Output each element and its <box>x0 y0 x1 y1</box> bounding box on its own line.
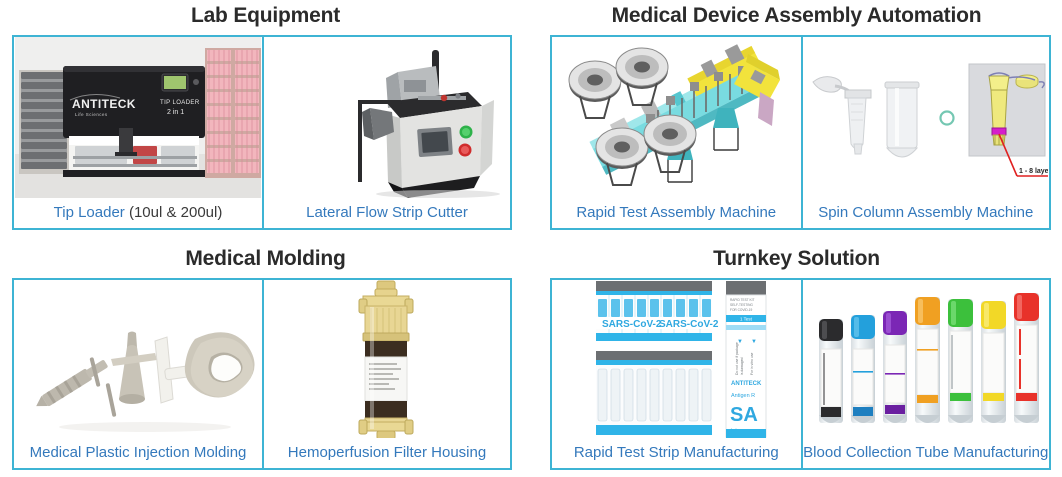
caption-main: Blood Collection Tube Manufacturing <box>803 444 1048 461</box>
card-caption: Hemoperfusion Filter Housing <box>264 438 510 468</box>
section-title: Turnkey Solution <box>531 245 1062 273</box>
caption-main: Lateral Flow Strip Cutter <box>306 204 468 221</box>
svg-text:SELF-TESTING: SELF-TESTING <box>730 303 753 307</box>
card-caption: Rapid Test Strip Manufacturing <box>552 438 801 468</box>
section-title: Lab Equipment <box>0 2 531 30</box>
caption-main: Rapid Test Assembly Machine <box>576 204 776 221</box>
card-caption: Lateral Flow Strip Cutter <box>264 198 510 228</box>
section-medical-device-assembly-automation: Medical Device Assembly Automation <box>531 2 1062 30</box>
section-turnkey-solution: Turnkey Solution <box>531 245 1062 273</box>
svg-text:1 - 8 layers filter: 1 - 8 layers filter <box>1019 168 1048 175</box>
svg-text:FOR COVID-19: FOR COVID-19 <box>730 308 753 312</box>
svg-text:is damaged: is damaged <box>740 357 744 375</box>
caption-main: Tip Loader <box>54 204 125 221</box>
rapid-test-assembly-machine-image <box>552 37 801 198</box>
svg-text:ANTITECK: ANTITECK <box>731 381 762 387</box>
svg-text:Antigen R: Antigen R <box>731 393 755 399</box>
caption-main: Hemoperfusion Filter Housing <box>288 444 486 461</box>
card-rapid-test-strip-manufacturing[interactable]: SARS-CoV-2 SARS-CoV-2 <box>552 280 801 468</box>
product-showcase-page: Lab Equipment <box>0 0 1062 477</box>
card-hemoperfusion-filter-housing[interactable]: Hemoperfusion Filter Housing <box>262 280 510 468</box>
card-tip-loader[interactable]: ANTITECK Life Sciences TIP LOADER 2 in 1 <box>14 37 262 228</box>
caption-main: Spin Column Assembly Machine <box>818 204 1033 221</box>
hemoperfusion-filter-housing-image <box>264 280 510 438</box>
svg-text:SARS-CoV-2: SARS-CoV-2 <box>659 319 719 330</box>
svg-text:2 in 1: 2 in 1 <box>167 109 184 116</box>
rapid-test-strip-manufacturing-image: SARS-CoV-2 SARS-CoV-2 <box>552 280 801 438</box>
svg-text:▼: ▼ <box>751 339 757 345</box>
card-caption: Medical Plastic Injection Molding <box>14 438 262 468</box>
svg-text:TIP LOADER: TIP LOADER <box>160 100 200 106</box>
svg-text:1 Test: 1 Test <box>740 317 753 322</box>
svg-text:SARS-CoV-2: SARS-CoV-2 <box>602 319 662 330</box>
card-group: SARS-CoV-2 SARS-CoV-2 <box>550 278 1051 470</box>
svg-text:Life Sciences: Life Sciences <box>75 112 108 117</box>
card-spin-column-assembly-machine[interactable]: 1 - 8 layers filter Spin Column Assembly… <box>801 37 1050 228</box>
card-group: ANTITECK Life Sciences TIP LOADER 2 in 1 <box>12 35 512 230</box>
tip-loader-image: ANTITECK Life Sciences TIP LOADER 2 in 1 <box>14 37 262 198</box>
blood-collection-tube-manufacturing-image <box>803 280 1050 438</box>
svg-text:SA: SA <box>730 404 758 426</box>
section-lab-equipment: Lab Equipment <box>0 2 531 30</box>
card-caption: Rapid Test Assembly Machine <box>552 198 801 228</box>
section-medical-molding: Medical Molding <box>0 245 531 273</box>
spin-column-assembly-machine-image: 1 - 8 layers filter <box>803 37 1050 198</box>
card-caption: Spin Column Assembly Machine <box>803 198 1050 228</box>
medical-plastic-injection-molding-image <box>14 280 262 438</box>
caption-main: Medical Plastic Injection Molding <box>30 444 247 461</box>
svg-text:ANTITECK: ANTITECK <box>72 97 136 111</box>
svg-text:For in vitro use: For in vitro use <box>750 352 754 375</box>
section-title: Medical Molding <box>0 245 531 273</box>
svg-text:Do not use if package: Do not use if package <box>735 342 739 375</box>
card-group: Medical Plastic Injection Molding <box>12 278 512 470</box>
card-rapid-test-assembly-machine[interactable]: Rapid Test Assembly Machine <box>552 37 801 228</box>
card-medical-plastic-injection-molding[interactable]: Medical Plastic Injection Molding <box>14 280 262 468</box>
section-title: Medical Device Assembly Automation <box>531 2 1062 30</box>
card-caption: Blood Collection Tube Manufacturing <box>803 438 1050 468</box>
card-caption: Tip Loader (10ul & 200ul) <box>14 198 262 228</box>
card-group: Rapid Test Assembly Machine <box>550 35 1051 230</box>
card-lateral-flow-strip-cutter[interactable]: Lateral Flow Strip Cutter <box>262 37 510 228</box>
svg-text:RAPID TEST KIT: RAPID TEST KIT <box>730 298 755 302</box>
card-blood-collection-tube-manufacturing[interactable]: Blood Collection Tube Manufacturing <box>801 280 1050 468</box>
caption-main: Rapid Test Strip Manufacturing <box>574 444 779 461</box>
lateral-flow-strip-cutter-image <box>264 37 510 198</box>
caption-sub: (10ul & 200ul) <box>125 204 223 221</box>
